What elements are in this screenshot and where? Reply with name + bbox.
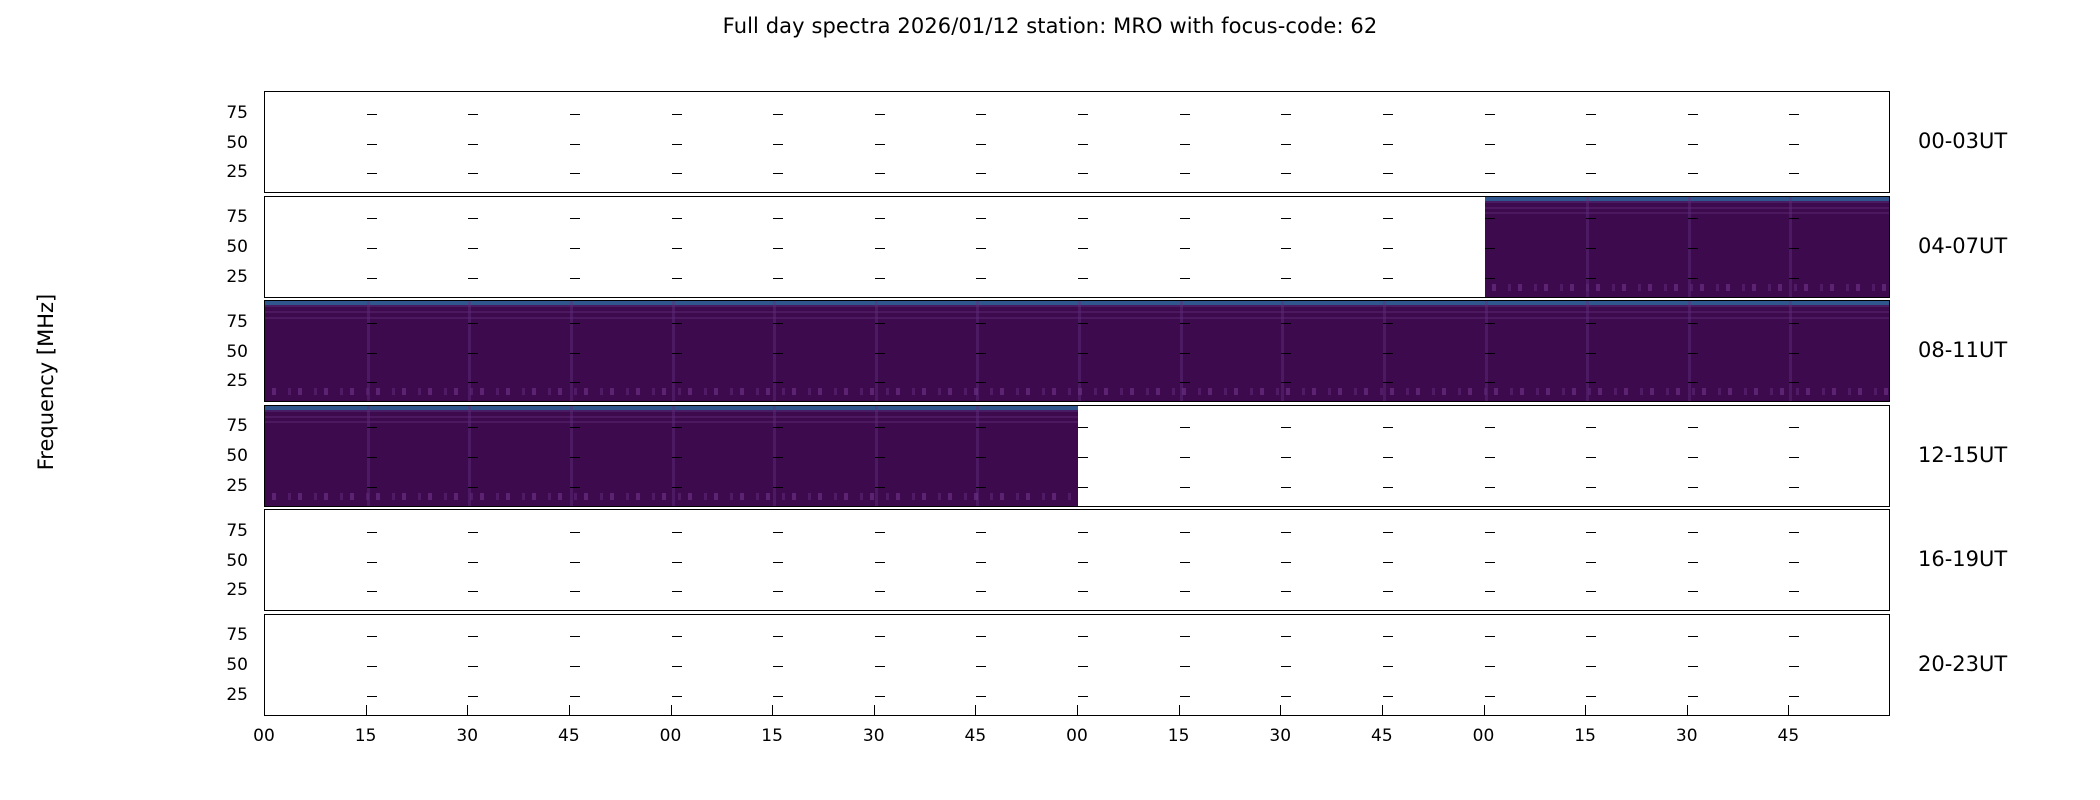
y-tick-mark-inner — [875, 248, 885, 249]
x-tick-mark — [671, 705, 672, 716]
spectrogram-figure: Full day spectra 2026/01/12 station: MRO… — [0, 0, 2100, 800]
y-tick-mark — [264, 532, 265, 533]
y-tick-mark-inner — [1485, 591, 1495, 592]
y-tick-mark-inner — [367, 323, 377, 324]
spectra-column-seam — [773, 301, 776, 401]
y-tick-mark-inner — [1281, 144, 1291, 145]
x-tick-mark — [467, 705, 468, 716]
y-tick-mark-inner — [367, 666, 377, 667]
y-tick-mark-inner — [1078, 696, 1088, 697]
y-tick-mark — [264, 591, 265, 592]
y-tick-label: 75 — [188, 314, 248, 331]
y-tick-mark-inner — [570, 427, 580, 428]
y-tick-mark-inner — [1688, 591, 1698, 592]
y-tick-mark-inner — [468, 173, 478, 174]
y-tick-mark-inner — [773, 248, 783, 249]
y-tick-mark-inner — [976, 457, 986, 458]
y-tick-mark-inner — [1485, 666, 1495, 667]
y-tick-mark-inner — [672, 666, 682, 667]
spectra-column-seam — [672, 301, 675, 401]
y-tick-mark-inner — [1078, 382, 1088, 383]
y-tick-label: 50 — [188, 239, 248, 256]
y-tick-mark-inner — [1586, 218, 1596, 219]
y-tick-mark-inner — [1078, 666, 1088, 667]
y-tick-mark-inner — [1281, 173, 1291, 174]
spectra-data-region — [1485, 197, 1891, 297]
y-tick-mark-inner — [672, 218, 682, 219]
y-tick-label: 75 — [188, 105, 248, 122]
spectra-panel — [264, 614, 1890, 716]
y-tick-mark-inner — [875, 591, 885, 592]
y-tick-mark-inner — [1281, 532, 1291, 533]
y-tick-mark-inner — [1485, 114, 1495, 115]
y-tick-mark-inner — [367, 278, 377, 279]
y-tick-mark-inner — [672, 382, 682, 383]
y-tick-mark-inner — [468, 353, 478, 354]
y-tick-mark-inner — [367, 144, 377, 145]
y-tick-mark-inner — [875, 666, 885, 667]
y-tick-mark-inner — [1383, 173, 1393, 174]
y-tick-mark-inner — [1688, 218, 1698, 219]
y-tick-mark-inner — [1078, 591, 1088, 592]
y-tick-mark-inner — [1688, 562, 1698, 563]
y-tick-mark-inner — [672, 457, 682, 458]
y-tick-mark-inner — [1789, 457, 1799, 458]
y-tick-mark-inner — [1383, 591, 1393, 592]
y-tick-mark-inner — [976, 532, 986, 533]
y-tick-mark-inner — [672, 562, 682, 563]
y-tick-mark-inner — [773, 218, 783, 219]
y-tick-label: 25 — [188, 373, 248, 390]
y-tick-mark-inner — [1485, 218, 1495, 219]
y-tick-mark-inner — [976, 382, 986, 383]
spectra-panel — [264, 196, 1890, 298]
y-tick-mark-inner — [1281, 636, 1291, 637]
y-tick-mark-inner — [570, 591, 580, 592]
y-tick-mark-inner — [1688, 532, 1698, 533]
y-tick-mark-inner — [976, 218, 986, 219]
y-tick-mark-inner — [1586, 457, 1596, 458]
y-tick-mark-inner — [875, 382, 885, 383]
spectra-column-seam — [875, 301, 878, 401]
y-tick-mark-inner — [1688, 248, 1698, 249]
y-tick-mark-inner — [468, 427, 478, 428]
y-tick-mark-inner — [1586, 353, 1596, 354]
y-tick-mark-inner — [1281, 591, 1291, 592]
y-tick-mark-inner — [875, 218, 885, 219]
x-tick-label: 45 — [539, 728, 599, 745]
row-time-label: 08-11UT — [1918, 340, 2007, 361]
figure-title: Full day spectra 2026/01/12 station: MRO… — [0, 14, 2100, 38]
y-tick-mark-inner — [367, 382, 377, 383]
y-tick-mark-inner — [976, 173, 986, 174]
y-tick-label: 50 — [188, 657, 248, 674]
y-tick-mark-inner — [1586, 114, 1596, 115]
y-tick-mark-inner — [1688, 457, 1698, 458]
y-tick-mark-inner — [1586, 382, 1596, 383]
y-tick-mark-inner — [1078, 248, 1088, 249]
y-tick-mark-inner — [773, 591, 783, 592]
y-tick-mark-inner — [1180, 173, 1190, 174]
y-tick-mark-inner — [1485, 636, 1495, 637]
y-tick-mark-inner — [976, 487, 986, 488]
y-tick-mark-inner — [367, 591, 377, 592]
y-tick-label: 25 — [188, 582, 248, 599]
y-tick-mark — [264, 218, 265, 219]
y-tick-mark-inner — [1180, 562, 1190, 563]
row-time-label: 00-03UT — [1918, 131, 2007, 152]
y-tick-mark-inner — [1078, 636, 1088, 637]
spectra-column-seam — [1281, 301, 1284, 401]
y-tick-mark-inner — [1789, 382, 1799, 383]
y-tick-mark-inner — [570, 636, 580, 637]
row-time-label: 12-15UT — [1918, 445, 2007, 466]
spectra-column-seam — [1688, 301, 1691, 401]
y-tick-mark-inner — [672, 353, 682, 354]
y-tick-mark-inner — [672, 636, 682, 637]
y-tick-mark-inner — [1586, 427, 1596, 428]
y-tick-mark-inner — [875, 487, 885, 488]
y-tick-mark-inner — [1281, 323, 1291, 324]
y-tick-mark-inner — [976, 427, 986, 428]
y-tick-label: 25 — [188, 269, 248, 286]
spectra-column-seam — [468, 406, 471, 506]
x-tick-mark — [1585, 705, 1586, 716]
y-tick-mark-inner — [1180, 323, 1190, 324]
y-tick-mark-inner — [773, 382, 783, 383]
y-tick-mark-inner — [672, 532, 682, 533]
y-tick-mark-inner — [976, 323, 986, 324]
y-tick-mark-inner — [1180, 248, 1190, 249]
y-tick-mark-inner — [570, 218, 580, 219]
y-tick-mark-inner — [773, 278, 783, 279]
spectra-column-seam — [1078, 301, 1081, 401]
y-tick-mark-inner — [1586, 532, 1596, 533]
y-tick-mark-inner — [1688, 696, 1698, 697]
y-tick-mark-inner — [672, 173, 682, 174]
y-tick-mark-inner — [773, 636, 783, 637]
y-tick-mark-inner — [1789, 427, 1799, 428]
y-tick-mark — [264, 382, 265, 383]
y-tick-mark-inner — [468, 457, 478, 458]
y-tick-mark-inner — [1485, 487, 1495, 488]
y-tick-mark-inner — [875, 457, 885, 458]
y-tick-mark-inner — [672, 696, 682, 697]
y-tick-mark-inner — [367, 218, 377, 219]
x-tick-label: 30 — [1657, 728, 1717, 745]
y-tick-label: 50 — [188, 344, 248, 361]
y-tick-mark-inner — [672, 487, 682, 488]
y-tick-mark-inner — [1485, 353, 1495, 354]
y-tick-mark-inner — [1078, 114, 1088, 115]
y-tick-mark-inner — [976, 562, 986, 563]
y-tick-mark-inner — [1789, 353, 1799, 354]
y-tick-mark-inner — [1485, 144, 1495, 145]
y-tick-mark-inner — [1180, 666, 1190, 667]
y-tick-mark-inner — [1180, 532, 1190, 533]
y-tick-mark — [264, 457, 265, 458]
x-tick-label: 45 — [1758, 728, 1818, 745]
y-tick-mark-inner — [1281, 666, 1291, 667]
y-tick-mark-inner — [875, 532, 885, 533]
y-tick-mark-inner — [367, 636, 377, 637]
y-tick-mark-inner — [1485, 562, 1495, 563]
y-tick-mark-inner — [468, 323, 478, 324]
y-tick-mark-inner — [672, 591, 682, 592]
y-tick-mark — [264, 278, 265, 279]
y-tick-mark-inner — [1383, 562, 1393, 563]
x-tick-mark — [874, 705, 875, 716]
y-tick-mark-inner — [367, 487, 377, 488]
y-tick-mark-inner — [773, 457, 783, 458]
y-tick-mark-inner — [1789, 666, 1799, 667]
y-tick-mark-inner — [1078, 218, 1088, 219]
y-tick-mark — [264, 666, 265, 667]
spectra-column-seam — [773, 406, 776, 506]
y-tick-mark-inner — [570, 323, 580, 324]
y-tick-mark-inner — [875, 696, 885, 697]
y-tick-mark-inner — [1586, 636, 1596, 637]
y-tick-mark-inner — [570, 114, 580, 115]
y-tick-mark-inner — [672, 144, 682, 145]
y-tick-mark — [264, 696, 265, 697]
y-tick-mark-inner — [1688, 636, 1698, 637]
y-tick-mark-inner — [1789, 144, 1799, 145]
y-tick-mark-inner — [773, 114, 783, 115]
spectra-column-seam — [570, 406, 573, 506]
y-tick-mark-inner — [672, 323, 682, 324]
spectra-column-seam — [1586, 197, 1589, 297]
y-tick-mark-inner — [468, 218, 478, 219]
y-tick-mark-inner — [1485, 173, 1495, 174]
spectra-data-region — [265, 406, 1078, 506]
x-tick-label: 15 — [1555, 728, 1615, 745]
spectra-column-seam — [1789, 301, 1792, 401]
y-tick-mark-inner — [367, 457, 377, 458]
spectra-column-seam — [672, 406, 675, 506]
y-tick-mark-inner — [773, 427, 783, 428]
y-tick-mark — [264, 487, 265, 488]
y-tick-mark-inner — [1281, 114, 1291, 115]
y-tick-label: 75 — [188, 627, 248, 644]
y-tick-mark-inner — [367, 114, 377, 115]
x-tick-label: 00 — [1047, 728, 1107, 745]
y-tick-mark-inner — [1586, 144, 1596, 145]
y-tick-mark-inner — [1383, 248, 1393, 249]
spectra-column-seam — [367, 301, 370, 401]
y-tick-mark-inner — [1281, 696, 1291, 697]
x-tick-label: 15 — [336, 728, 396, 745]
y-tick-label: 50 — [188, 553, 248, 570]
spectra-column-seam — [1485, 301, 1488, 401]
y-tick-mark-inner — [1586, 487, 1596, 488]
y-tick-mark-inner — [1789, 323, 1799, 324]
x-tick-mark — [569, 705, 570, 716]
y-tick-mark-inner — [1586, 278, 1596, 279]
y-tick-mark-inner — [875, 353, 885, 354]
y-tick-mark-inner — [1383, 696, 1393, 697]
y-tick-mark-inner — [1789, 487, 1799, 488]
y-tick-mark-inner — [1180, 218, 1190, 219]
row-time-label: 16-19UT — [1918, 549, 2007, 570]
y-tick-mark-inner — [367, 173, 377, 174]
y-tick-mark-inner — [1180, 144, 1190, 145]
y-tick-mark-inner — [1688, 173, 1698, 174]
y-tick-mark-inner — [1078, 562, 1088, 563]
y-tick-label: 25 — [188, 687, 248, 704]
y-tick-mark-inner — [1688, 323, 1698, 324]
y-tick-mark-inner — [976, 636, 986, 637]
x-tick-mark — [1077, 705, 1078, 716]
y-tick-mark-inner — [570, 487, 580, 488]
y-tick-mark-inner — [1281, 562, 1291, 563]
y-tick-label: 25 — [188, 478, 248, 495]
x-tick-label: 00 — [641, 728, 701, 745]
y-tick-mark-inner — [1078, 457, 1088, 458]
y-axis-label: Frequency [MHz] — [0, 0, 40, 800]
y-tick-mark-inner — [367, 427, 377, 428]
y-tick-mark-inner — [1789, 562, 1799, 563]
y-tick-mark-inner — [468, 278, 478, 279]
spectra-data-region — [265, 301, 1890, 401]
y-tick-mark-inner — [570, 696, 580, 697]
y-tick-mark-inner — [1485, 248, 1495, 249]
y-tick-mark — [264, 562, 265, 563]
y-tick-mark-inner — [1688, 666, 1698, 667]
y-tick-mark-inner — [1586, 562, 1596, 563]
x-tick-mark — [1788, 705, 1789, 716]
y-tick-mark-inner — [1688, 278, 1698, 279]
y-tick-mark-inner — [570, 248, 580, 249]
y-tick-mark-inner — [1688, 382, 1698, 383]
y-tick-mark-inner — [1281, 278, 1291, 279]
y-tick-mark-inner — [1789, 218, 1799, 219]
y-tick-mark-inner — [367, 562, 377, 563]
y-tick-mark — [264, 144, 265, 145]
x-tick-label: 30 — [1250, 728, 1310, 745]
y-tick-mark-inner — [367, 532, 377, 533]
x-tick-label: 30 — [844, 728, 904, 745]
y-tick-mark-inner — [1383, 144, 1393, 145]
y-tick-mark-inner — [570, 562, 580, 563]
spectra-column-seam — [976, 301, 979, 401]
y-tick-mark-inner — [468, 696, 478, 697]
y-tick-mark-inner — [1180, 487, 1190, 488]
y-tick-mark — [264, 323, 265, 324]
x-tick-label: 15 — [1149, 728, 1209, 745]
y-tick-mark — [264, 173, 265, 174]
y-tick-mark-inner — [570, 382, 580, 383]
y-tick-mark-inner — [976, 248, 986, 249]
y-tick-mark-inner — [570, 666, 580, 667]
y-tick-mark-inner — [1281, 353, 1291, 354]
y-tick-mark-inner — [1586, 666, 1596, 667]
y-tick-mark-inner — [570, 173, 580, 174]
y-tick-mark-inner — [1383, 323, 1393, 324]
spectra-column-seam — [1789, 197, 1792, 297]
y-tick-mark-inner — [1281, 382, 1291, 383]
y-tick-mark-inner — [1688, 144, 1698, 145]
x-tick-mark — [975, 705, 976, 716]
x-tick-label: 00 — [1454, 728, 1514, 745]
y-tick-mark-inner — [367, 353, 377, 354]
y-tick-mark-inner — [1281, 487, 1291, 488]
y-tick-mark-inner — [773, 173, 783, 174]
y-tick-mark-inner — [773, 696, 783, 697]
y-tick-mark-inner — [468, 114, 478, 115]
spectra-panel — [264, 91, 1890, 193]
x-tick-mark — [772, 705, 773, 716]
x-tick-mark — [1382, 705, 1383, 716]
spectra-column-seam — [1383, 301, 1386, 401]
y-tick-label: 75 — [188, 523, 248, 540]
y-tick-mark-inner — [1485, 278, 1495, 279]
row-time-label: 04-07UT — [1918, 236, 2007, 257]
y-tick-mark-inner — [570, 353, 580, 354]
y-tick-mark-inner — [672, 248, 682, 249]
y-tick-mark-inner — [1078, 532, 1088, 533]
y-tick-mark-inner — [1485, 532, 1495, 533]
y-tick-mark — [264, 114, 265, 115]
y-tick-mark-inner — [1789, 278, 1799, 279]
y-tick-mark-inner — [367, 248, 377, 249]
y-tick-mark-inner — [1383, 666, 1393, 667]
y-tick-mark-inner — [468, 562, 478, 563]
x-tick-label: 00 — [234, 728, 294, 745]
y-tick-mark-inner — [1078, 487, 1088, 488]
y-tick-mark-inner — [1688, 353, 1698, 354]
x-tick-mark — [1687, 705, 1688, 716]
y-tick-mark-inner — [1586, 173, 1596, 174]
y-tick-mark-inner — [875, 562, 885, 563]
y-tick-mark-inner — [1281, 427, 1291, 428]
spectra-column-seam — [1688, 197, 1691, 297]
y-tick-mark-inner — [1485, 382, 1495, 383]
y-tick-mark-inner — [976, 353, 986, 354]
y-tick-mark-inner — [1383, 353, 1393, 354]
x-tick-mark — [264, 705, 265, 716]
y-tick-mark-inner — [773, 562, 783, 563]
y-tick-mark-inner — [1586, 323, 1596, 324]
y-tick-mark-inner — [1789, 591, 1799, 592]
y-tick-mark-inner — [976, 666, 986, 667]
y-tick-label: 75 — [188, 418, 248, 435]
y-tick-mark-inner — [1688, 427, 1698, 428]
y-tick-mark-inner — [672, 114, 682, 115]
y-tick-mark-inner — [773, 323, 783, 324]
x-tick-label: 45 — [1352, 728, 1412, 745]
x-tick-mark — [1484, 705, 1485, 716]
y-tick-mark-inner — [875, 278, 885, 279]
spectra-column-seam — [875, 406, 878, 506]
y-tick-mark-inner — [672, 427, 682, 428]
y-tick-mark-inner — [1383, 487, 1393, 488]
y-tick-mark-inner — [1281, 248, 1291, 249]
y-tick-mark — [264, 248, 265, 249]
y-axis-label-text: Frequency [MHz] — [34, 232, 58, 532]
y-tick-mark-inner — [1180, 353, 1190, 354]
y-tick-mark-inner — [468, 636, 478, 637]
y-tick-mark-inner — [875, 323, 885, 324]
y-tick-mark-inner — [1586, 696, 1596, 697]
y-tick-mark-inner — [1281, 218, 1291, 219]
y-tick-mark-inner — [468, 248, 478, 249]
y-tick-mark-inner — [1180, 382, 1190, 383]
y-tick-mark-inner — [1180, 278, 1190, 279]
y-tick-mark-inner — [1078, 173, 1088, 174]
y-tick-mark-inner — [773, 666, 783, 667]
y-tick-mark-inner — [976, 144, 986, 145]
